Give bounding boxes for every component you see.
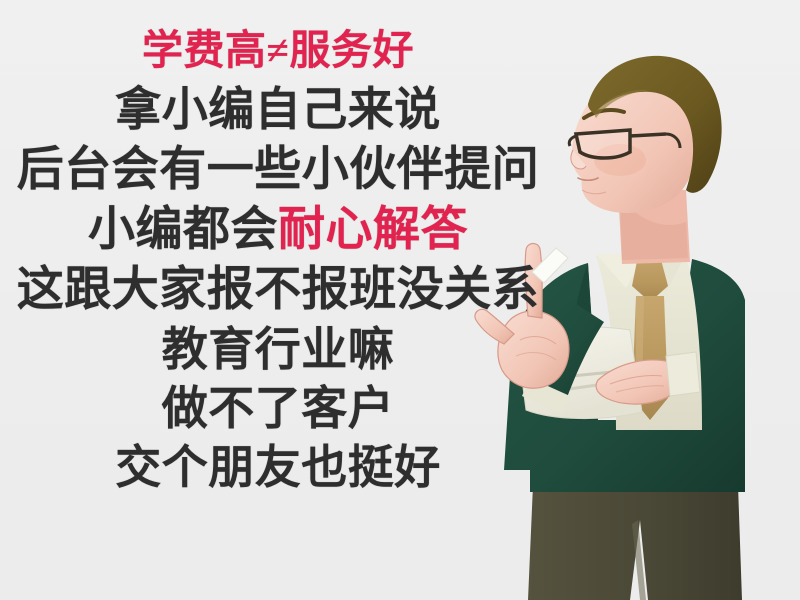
poster-line-1: 学费高≠服务好 xyxy=(0,30,556,71)
trousers-shape xyxy=(528,485,742,600)
poster-line-4: 小编都会耐心解答 xyxy=(0,207,556,254)
poster-line-4-segment-2: 耐心解答 xyxy=(278,204,468,256)
poster-line-7: 做不了客户 xyxy=(0,386,556,432)
poster-line-8: 交个朋友也挺好 xyxy=(0,445,556,491)
poster-line-3: 后台会有一些小伙伴提问 xyxy=(0,147,556,194)
poster-canvas: 学费高≠服务好 拿小编自己来说 后台会有一些小伙伴提问 小编都会耐心解答 这跟大… xyxy=(0,0,800,600)
poster-line-2-segment-1: 拿小编自己来说 xyxy=(115,84,441,135)
poster-line-1-segment-1: 学费高≠服务好 xyxy=(142,27,414,73)
poster-text-block: 学费高≠服务好 拿小编自己来说 后台会有一些小伙伴提问 小编都会耐心解答 这跟大… xyxy=(0,30,556,491)
poster-line-6: 教育行业嘛 xyxy=(0,327,556,373)
poster-line-7-segment-1: 做不了客户 xyxy=(162,383,395,434)
poster-line-5: 这跟大家报不报班没关系 xyxy=(0,267,556,314)
poster-line-5-segment-1: 这跟大家报不报班没关系 xyxy=(17,264,540,316)
poster-line-4-segment-1: 小编都会 xyxy=(88,204,278,256)
poster-line-6-segment-1: 教育行业嘛 xyxy=(162,324,395,375)
poster-line-8-segment-1: 交个朋友也挺好 xyxy=(115,442,441,493)
poster-line-3-segment-1: 后台会有一些小伙伴提问 xyxy=(17,144,540,196)
poster-line-2: 拿小编自己来说 xyxy=(0,87,556,133)
